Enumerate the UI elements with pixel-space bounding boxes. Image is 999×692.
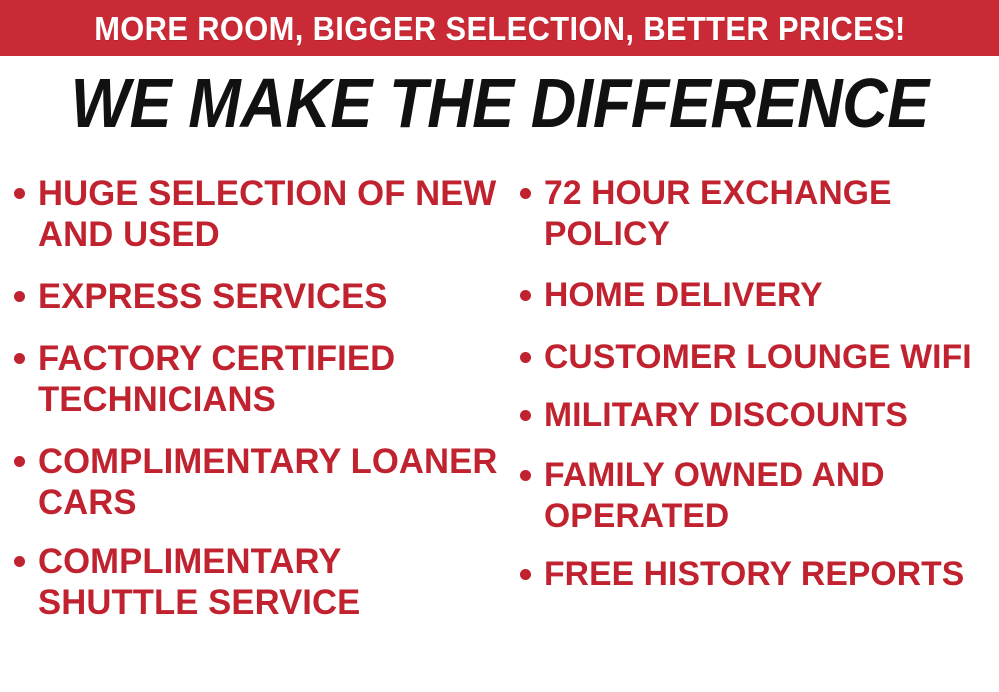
benefits-column-left: HUGE SELECTION OF NEW AND USED EXPRESS S…	[0, 152, 508, 623]
list-item: HOME DELIVERY	[520, 275, 997, 316]
list-item: FACTORY CERTIFIED TECHNICIANS	[14, 338, 504, 420]
list-item-label: FREE HISTORY REPORTS	[544, 554, 964, 595]
promo-banner-text: MORE ROOM, BIGGER SELECTION, BETTER PRIC…	[94, 12, 906, 45]
list-item-label: FACTORY CERTIFIED TECHNICIANS	[38, 338, 499, 420]
list-item: HUGE SELECTION OF NEW AND USED	[14, 173, 504, 255]
bullet-dot-icon	[520, 410, 531, 421]
bullet-dot-icon	[14, 556, 25, 567]
list-item: CUSTOMER LOUNGE WIFI	[520, 337, 997, 378]
bullet-dot-icon	[14, 291, 25, 302]
bullet-dot-icon	[520, 290, 531, 301]
list-item-label: EXPRESS SERVICES	[38, 276, 388, 317]
list-item-label: HOME DELIVERY	[544, 275, 823, 316]
bullet-dot-icon	[520, 470, 531, 481]
list-item-label: 72 HOUR EXCHANGE POLICY	[544, 173, 992, 255]
benefits-column-right: 72 HOUR EXCHANGE POLICY HOME DELIVERY CU…	[508, 152, 999, 595]
bullet-dot-icon	[520, 188, 531, 199]
list-item-label: MILITARY DISCOUNTS	[544, 395, 908, 436]
list-item: COMPLIMENTARY LOANER CARS	[14, 441, 504, 523]
list-item: FREE HISTORY REPORTS	[520, 554, 997, 595]
bullet-dot-icon	[14, 188, 25, 199]
list-item-label: HUGE SELECTION OF NEW AND USED	[38, 173, 499, 255]
list-item-label: CUSTOMER LOUNGE WIFI	[544, 337, 972, 378]
list-item-label: FAMILY OWNED AND OPERATED	[544, 455, 992, 537]
list-item-label: COMPLIMENTARY LOANER CARS	[38, 441, 499, 523]
bullet-dot-icon	[520, 569, 531, 580]
list-item: FAMILY OWNED AND OPERATED	[520, 455, 997, 537]
bullet-dot-icon	[520, 352, 531, 363]
list-item: EXPRESS SERVICES	[14, 276, 504, 317]
list-item-label: COMPLIMENTARY SHUTTLE SERVICE	[38, 541, 499, 623]
list-item: 72 HOUR EXCHANGE POLICY	[520, 173, 997, 255]
benefits-columns: HUGE SELECTION OF NEW AND USED EXPRESS S…	[0, 152, 999, 692]
page-title: WE MAKE THE DIFFERENCE	[70, 68, 928, 138]
headline-container: WE MAKE THE DIFFERENCE	[0, 62, 999, 144]
list-item: MILITARY DISCOUNTS	[520, 395, 997, 436]
list-item: COMPLIMENTARY SHUTTLE SERVICE	[14, 541, 504, 623]
bullet-dot-icon	[14, 456, 25, 467]
bullet-dot-icon	[14, 353, 25, 364]
advertisement-banner: MORE ROOM, BIGGER SELECTION, BETTER PRIC…	[0, 0, 999, 692]
promo-banner: MORE ROOM, BIGGER SELECTION, BETTER PRIC…	[0, 0, 999, 56]
